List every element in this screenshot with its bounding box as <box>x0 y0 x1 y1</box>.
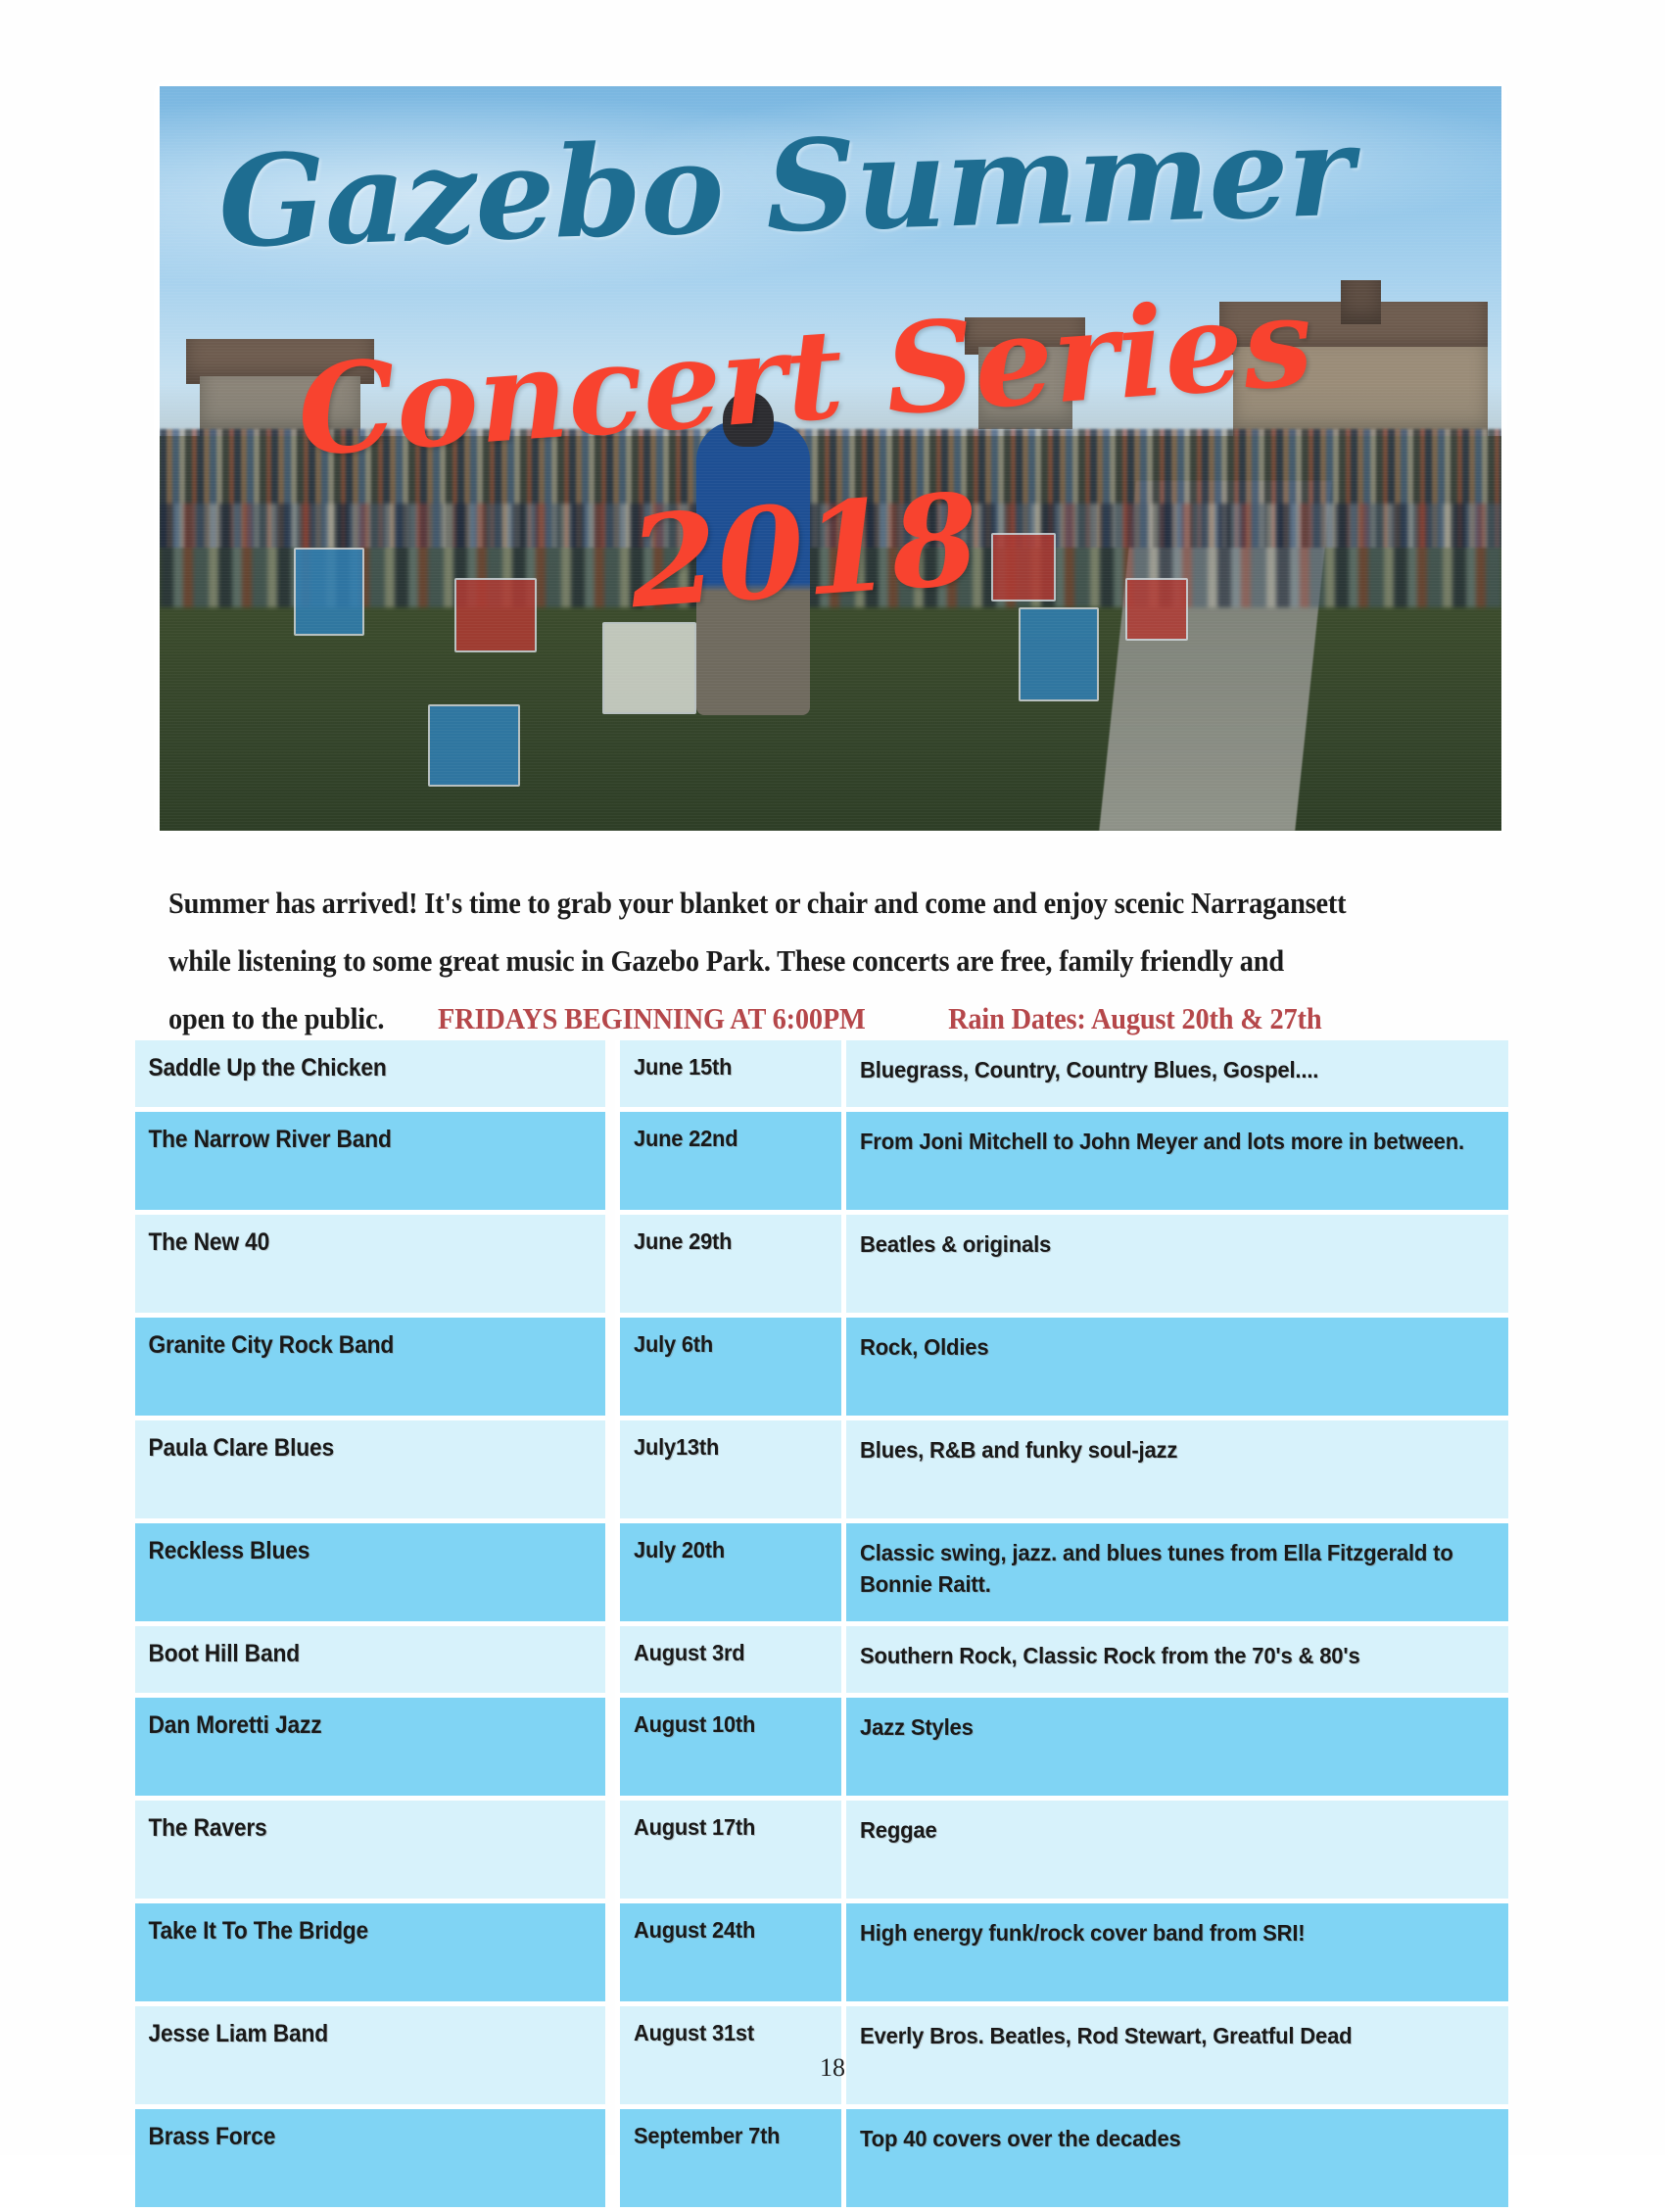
table-row[interactable]: Paula Clare Blues July13th Blues, R&B an… <box>125 1420 1508 1523</box>
band-cell: Boot Hill Band <box>135 1626 605 1698</box>
band-name: Boot Hill Band <box>148 1640 573 1668</box>
table-row[interactable]: The New 40 June 29th Beatles & originals <box>125 1215 1508 1318</box>
genre-description: Top 40 covers over the decades <box>860 2123 1473 2154</box>
intro-line-2: while listening to some great music in G… <box>168 933 1394 990</box>
intro-line-1: Summer has arrived! It's time to grab yo… <box>168 875 1394 933</box>
genre-description: Rock, Oldies <box>860 1331 1473 1363</box>
band-cell: The Ravers <box>135 1801 605 1903</box>
date-cell: July 20th <box>615 1523 841 1626</box>
fridays-time-highlight: FRIDAYS BEGINNING AT 6:00PM <box>438 1002 866 1035</box>
table-row[interactable]: Dan Moretti Jazz August 10th Jazz Styles <box>125 1698 1508 1801</box>
concert-date: August 10th <box>634 1711 822 1738</box>
date-cell: August 24th <box>615 1903 841 2006</box>
concert-date: August 17th <box>634 1814 822 1841</box>
date-cell: June 29th <box>615 1215 841 1318</box>
genre-description: Jazz Styles <box>860 1711 1473 1743</box>
band-cell: Granite City Rock Band <box>135 1318 605 1420</box>
intro-line-3-plain: open to the public. <box>168 1002 384 1035</box>
concert-date: June 15th <box>634 1054 822 1081</box>
rain-dates-highlight: Rain Dates: August 20th & 27th <box>948 1002 1321 1035</box>
table-row[interactable]: The Ravers August 17th Reggae <box>125 1801 1508 1903</box>
description-cell: Bluegrass, Country, Country Blues, Gospe… <box>841 1040 1508 1112</box>
band-cell: Reckless Blues <box>135 1523 605 1626</box>
table-row[interactable]: Reckless Blues July 20th Classic swing, … <box>125 1523 1508 1626</box>
genre-description: From Joni Mitchell to John Meyer and lot… <box>860 1126 1473 1157</box>
table-row[interactable]: Take It To The Bridge August 24th High e… <box>125 1903 1508 2006</box>
band-cell: Paula Clare Blues <box>135 1420 605 1523</box>
concert-date: June 29th <box>634 1228 822 1255</box>
concert-date: July 6th <box>634 1331 822 1358</box>
lawn-chair <box>1125 578 1188 641</box>
table-row[interactable]: Saddle Up the Chicken June 15th Bluegras… <box>125 1040 1508 1112</box>
band-name: Dan Moretti Jazz <box>148 1711 573 1740</box>
description-cell: Rock, Oldies <box>841 1318 1508 1420</box>
concert-date: July13th <box>634 1434 822 1461</box>
concert-date: September 7th <box>634 2123 822 2149</box>
chimney <box>1341 280 1381 325</box>
band-name: The Ravers <box>148 1814 573 1843</box>
lawn-chair <box>294 548 364 636</box>
description-cell: Blues, R&B and funky soul-jazz <box>841 1420 1508 1523</box>
band-name: The New 40 <box>148 1228 573 1257</box>
concert-schedule-table: Saddle Up the Chicken June 15th Bluegras… <box>125 1040 1508 2212</box>
lawn-chair <box>428 704 520 787</box>
lawn-chair <box>1019 607 1099 701</box>
poster-page: Gazebo Summer Concert Series 2018 Summer… <box>0 0 1665 2155</box>
description-cell: Top 40 covers over the decades <box>841 2109 1508 2212</box>
description-cell: Reggae <box>841 1801 1508 1903</box>
table-row[interactable]: Brass Force September 7th Top 40 covers … <box>125 2109 1508 2212</box>
header-photo: Gazebo Summer Concert Series 2018 <box>160 86 1501 831</box>
date-cell: September 7th <box>615 2109 841 2212</box>
description-cell: Jazz Styles <box>841 1698 1508 1801</box>
lawn-chair <box>454 578 537 652</box>
date-cell: June 22nd <box>615 1112 841 1215</box>
table-row[interactable]: Granite City Rock Band July 6th Rock, Ol… <box>125 1318 1508 1420</box>
lawn-chair <box>991 533 1056 601</box>
poster-year: 2018 <box>625 466 983 637</box>
band-name: Paula Clare Blues <box>148 1434 573 1463</box>
concert-date: July 20th <box>634 1537 822 1563</box>
description-cell: Southern Rock, Classic Rock from the 70'… <box>841 1626 1508 1698</box>
band-cell: Take It To The Bridge <box>135 1903 605 2006</box>
concert-date: August 31st <box>634 2020 822 2046</box>
date-cell: June 15th <box>615 1040 841 1112</box>
band-name: The Narrow River Band <box>148 1126 573 1154</box>
band-name: Take It To The Bridge <box>148 1917 573 1946</box>
band-name: Granite City Rock Band <box>148 1331 573 1360</box>
description-cell: From Joni Mitchell to John Meyer and lot… <box>841 1112 1508 1215</box>
genre-description: Reggae <box>860 1814 1473 1846</box>
description-cell: Beatles & originals <box>841 1215 1508 1318</box>
description-cell: Classic swing, jazz. and blues tunes fro… <box>841 1523 1508 1626</box>
band-cell: The Narrow River Band <box>135 1112 605 1215</box>
date-cell: July13th <box>615 1420 841 1523</box>
concert-date: June 22nd <box>634 1126 822 1152</box>
genre-description: High energy funk/rock cover band from SR… <box>860 1917 1473 1948</box>
date-cell: July 6th <box>615 1318 841 1420</box>
concert-date: August 24th <box>634 1917 822 1944</box>
band-name: Brass Force <box>148 2123 573 2151</box>
band-cell: Brass Force <box>135 2109 605 2212</box>
description-cell: High energy funk/rock cover band from SR… <box>841 1903 1508 2006</box>
schedule-body: Saddle Up the Chicken June 15th Bluegras… <box>125 1040 1508 2212</box>
genre-description: Blues, R&B and funky soul-jazz <box>860 1434 1473 1466</box>
table-row[interactable]: Boot Hill Band August 3rd Southern Rock,… <box>125 1626 1508 1698</box>
genre-description: Southern Rock, Classic Rock from the 70'… <box>860 1640 1473 1671</box>
table-row[interactable]: The Narrow River Band June 22nd From Jon… <box>125 1112 1508 1215</box>
lawn-chair <box>602 622 696 714</box>
genre-description: Beatles & originals <box>860 1228 1473 1260</box>
intro-paragraph: Summer has arrived! It's time to grab yo… <box>168 875 1394 1048</box>
page-number: 18 <box>0 2053 1665 2083</box>
date-cell: August 10th <box>615 1698 841 1801</box>
band-cell: Dan Moretti Jazz <box>135 1698 605 1801</box>
date-cell: August 17th <box>615 1801 841 1903</box>
band-name: Reckless Blues <box>148 1537 573 1565</box>
date-cell: August 3rd <box>615 1626 841 1698</box>
concert-date: August 3rd <box>634 1640 822 1666</box>
band-name: Jesse Liam Band <box>148 2020 573 2048</box>
band-name: Saddle Up the Chicken <box>148 1054 573 1082</box>
band-cell: Saddle Up the Chicken <box>135 1040 605 1112</box>
genre-description: Everly Bros. Beatles, Rod Stewart, Great… <box>860 2020 1473 2051</box>
band-cell: The New 40 <box>135 1215 605 1318</box>
genre-description: Classic swing, jazz. and blues tunes fro… <box>860 1537 1473 1600</box>
genre-description: Bluegrass, Country, Country Blues, Gospe… <box>860 1054 1473 1085</box>
